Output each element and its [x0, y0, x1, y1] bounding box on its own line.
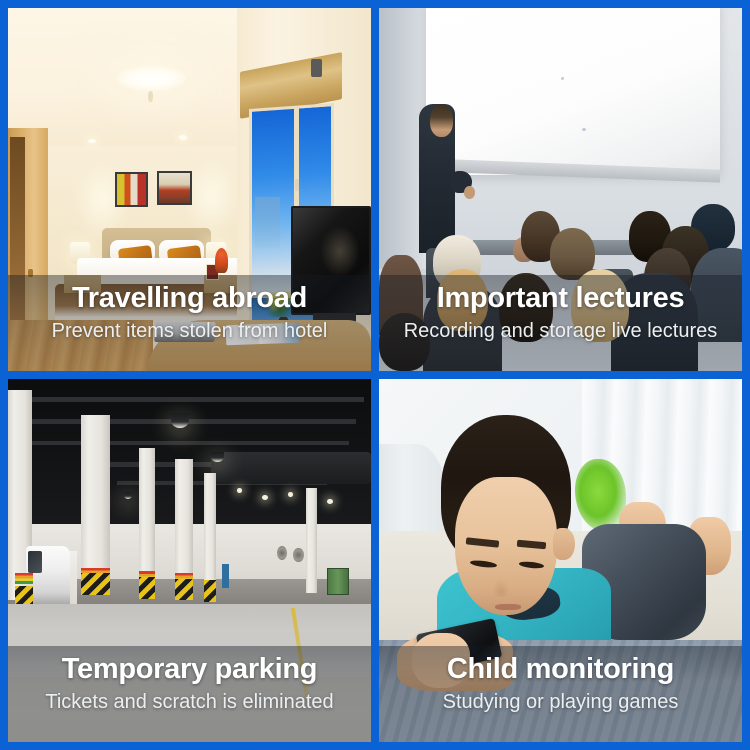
panel-title: Important lectures [437, 281, 685, 315]
green-service-door [327, 568, 349, 595]
feature-grid: Travelling abroad Prevent items stolen f… [0, 0, 750, 750]
child-mouth [495, 604, 520, 610]
feature-panel-important-lectures[interactable]: Important lectures Recording and storage… [379, 8, 742, 371]
pendant-light-icon [124, 492, 132, 499]
panel-subtitle: Studying or playing games [443, 690, 679, 714]
child-nose [492, 579, 510, 597]
window-handle-icon [295, 179, 298, 192]
panel-caption: Temporary parking Tickets and scratch is… [8, 646, 371, 742]
screen-artifact [582, 128, 586, 131]
wall-fan-icon [293, 548, 304, 563]
ceiling-light-icon [288, 492, 294, 497]
blue-utility-box [222, 564, 229, 588]
flower-vase [215, 248, 228, 273]
ceiling-fixture-stem [148, 91, 153, 102]
panel-caption: Child monitoring Studying or playing gam… [379, 646, 742, 742]
panel-caption: Important lectures Recording and storage… [379, 275, 742, 371]
wall-art-left [115, 172, 148, 206]
city-skyline [255, 197, 280, 248]
feature-panel-temporary-parking[interactable]: Temporary parking Tickets and scratch is… [8, 379, 371, 742]
support-column [306, 488, 317, 593]
ceiling-beam [23, 419, 357, 424]
tv-screen-glare [320, 226, 360, 277]
ceiling-beam [30, 441, 349, 446]
panel-title: Temporary parking [62, 652, 317, 686]
panel-title: Child monitoring [447, 652, 674, 686]
panel-subtitle: Recording and storage live lectures [404, 319, 718, 343]
downlight-icon [179, 135, 187, 140]
panel-title: Travelling abroad [72, 281, 307, 315]
panel-subtitle: Tickets and scratch is eliminated [45, 690, 333, 714]
van-window [28, 551, 43, 573]
feature-panel-child-monitoring[interactable]: Child monitoring Studying or playing gam… [379, 379, 742, 742]
wall-art-right [157, 171, 192, 204]
projection-screen [426, 8, 720, 175]
column-color-band [15, 573, 33, 584]
hazard-stripe-guard [175, 579, 193, 601]
screen-artifact [561, 77, 565, 80]
ventilation-duct [211, 452, 371, 485]
feature-panel-travelling-abroad[interactable]: Travelling abroad Prevent items stolen f… [8, 8, 371, 371]
hazard-stripe-guard [139, 577, 155, 599]
curtain-rod [311, 59, 322, 77]
hazard-stripe-guard [81, 573, 110, 595]
panel-caption: Travelling abroad Prevent items stolen f… [8, 275, 371, 371]
presenter-head [430, 104, 454, 137]
product-feature-poster: Travelling abroad Prevent items stolen f… [0, 0, 750, 750]
hazard-stripe-guard [204, 580, 216, 602]
support-column [204, 473, 216, 593]
ceiling-beam [15, 397, 363, 402]
support-column [81, 415, 110, 593]
panel-subtitle: Prevent items stolen from hotel [52, 319, 328, 343]
presenter-hand [464, 186, 475, 199]
